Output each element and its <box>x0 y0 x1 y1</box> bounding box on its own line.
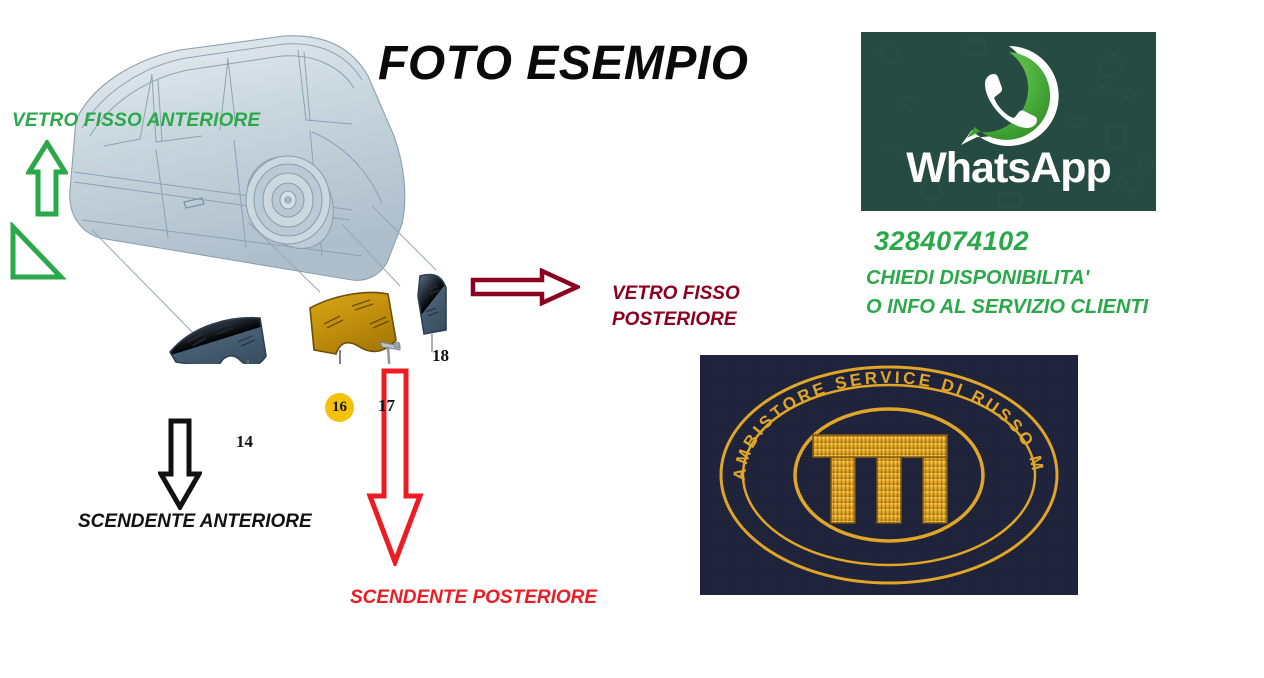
phone-number: 3284074102 <box>874 226 1029 257</box>
black-down-arrow-icon <box>158 418 202 510</box>
part-16-rear-drop-glass <box>310 293 396 364</box>
contact-line-2: O INFO AL SERVIZIO CLIENTI <box>866 296 1148 319</box>
whatsapp-wordmark: WhatsApp <box>861 144 1156 193</box>
part-18-rear-fixed-glass <box>418 275 446 353</box>
whatsapp-banner: WhatsApp <box>861 32 1156 211</box>
whatsapp-icon <box>955 42 1063 150</box>
label-scendente-anteriore: SCENDENTE ANTERIORE <box>78 511 312 533</box>
part-number-17: 17 <box>378 396 395 416</box>
part-number-14: 14 <box>236 432 253 452</box>
page-title: FOTO ESEMPIO <box>378 36 749 91</box>
label-vetro-fisso-posteriore: VETRO FISSO POSTERIORE <box>612 281 740 333</box>
part-number-18: 18 <box>432 346 449 366</box>
part-17-hardware <box>380 342 400 364</box>
contact-line-1: CHIEDI DISPONIBILITA' <box>866 267 1089 290</box>
green-up-arrow-icon <box>26 140 68 218</box>
fabric-texture <box>700 355 1078 595</box>
label-line-2: POSTERIORE <box>612 307 740 333</box>
label-vetro-fisso-anteriore: VETRO FISSO ANTERIORE <box>12 110 260 132</box>
red-down-arrow-icon <box>366 368 424 566</box>
label-line-1: VETRO FISSO <box>612 281 740 307</box>
car-body <box>70 36 405 280</box>
label-scendente-posteriore: SCENDENTE POSTERIORE <box>350 587 597 609</box>
part-number-16-badge: 16 <box>325 393 354 422</box>
shop-logo: MRICAMBISTORE SERVICE DI RUSSO MARCO <box>700 355 1078 595</box>
green-triangle-icon <box>8 222 66 282</box>
screenshot-canvas: FOTO ESEMPIO VETRO FISSO ANTERIORE VETRO… <box>0 0 1264 678</box>
darkred-right-arrow-icon <box>470 268 580 306</box>
